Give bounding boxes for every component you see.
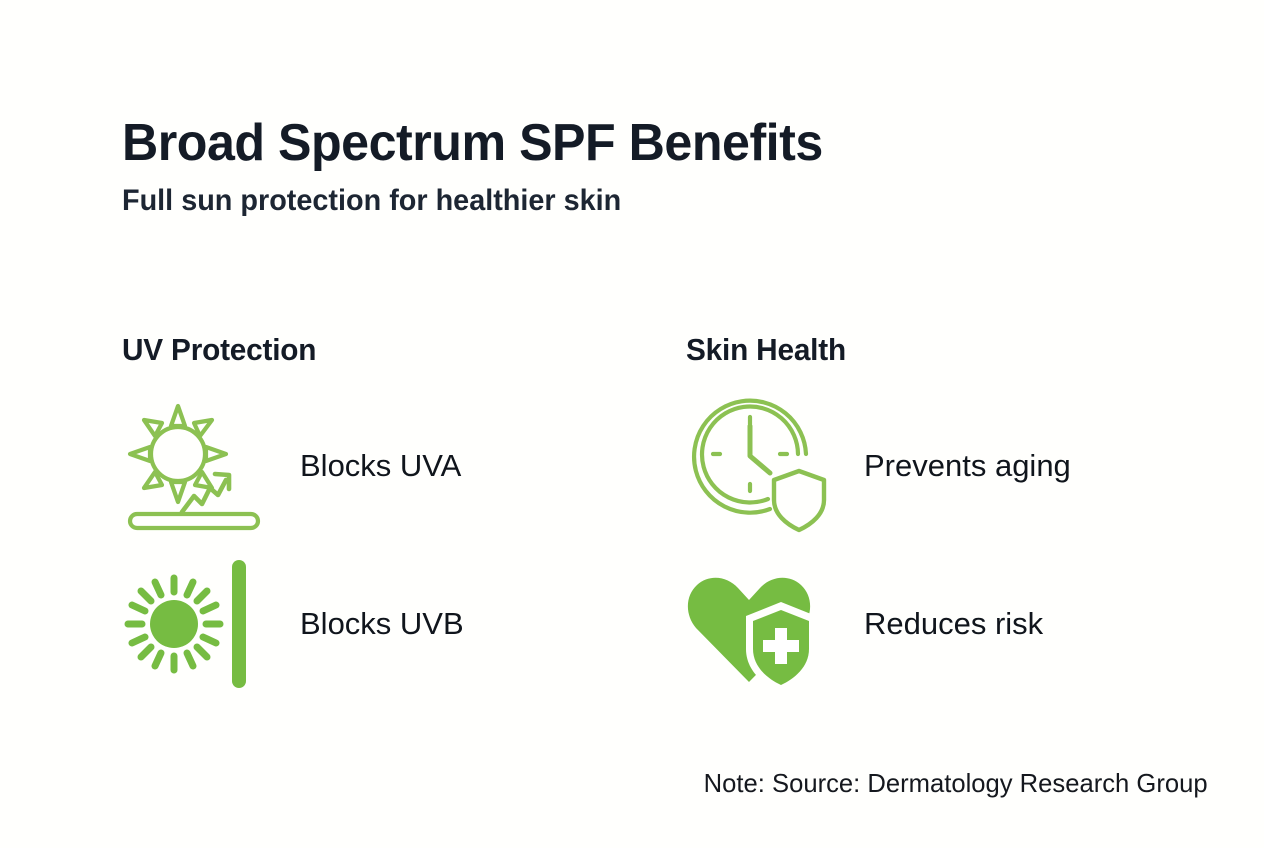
column-skin-health: Skin Health xyxy=(686,332,1246,694)
header: Broad Spectrum SPF Benefits Full sun pro… xyxy=(122,116,1122,219)
column-uv-protection: UV Protection xyxy=(122,332,682,694)
page-subtitle: Full sun protection for healthier skin xyxy=(122,183,1082,219)
heart-shield-plus-icon xyxy=(686,554,836,694)
benefit-item-reduces-risk: Reduces risk xyxy=(686,554,1246,694)
icon-container xyxy=(122,554,272,694)
benefit-label: Reduces risk xyxy=(864,606,1043,642)
infographic-canvas: Broad Spectrum SPF Benefits Full sun pro… xyxy=(0,0,1264,848)
icon-container xyxy=(686,554,836,694)
section-title-skin-health: Skin Health xyxy=(686,332,1224,368)
icon-container xyxy=(686,396,836,536)
clock-shield-icon xyxy=(686,396,836,536)
source-footnote: Note: Source: Dermatology Research Group xyxy=(704,768,1208,799)
sun-uva-blocked-icon xyxy=(122,396,272,536)
benefit-item-blocks-uva: Blocks UVA xyxy=(122,396,682,536)
page-title: Broad Spectrum SPF Benefits xyxy=(122,116,1087,171)
benefit-item-prevents-aging: Prevents aging xyxy=(686,396,1246,536)
benefit-item-blocks-uvb: Blocks UVB xyxy=(122,554,682,694)
benefit-columns: UV Protection xyxy=(0,332,1264,694)
icon-container xyxy=(122,396,272,536)
benefit-label: Prevents aging xyxy=(864,448,1071,484)
benefit-label: Blocks UVB xyxy=(300,606,464,642)
benefit-label: Blocks UVA xyxy=(300,448,461,484)
section-title-uv-protection: UV Protection xyxy=(122,332,660,368)
sun-uvb-barrier-icon xyxy=(122,554,272,694)
